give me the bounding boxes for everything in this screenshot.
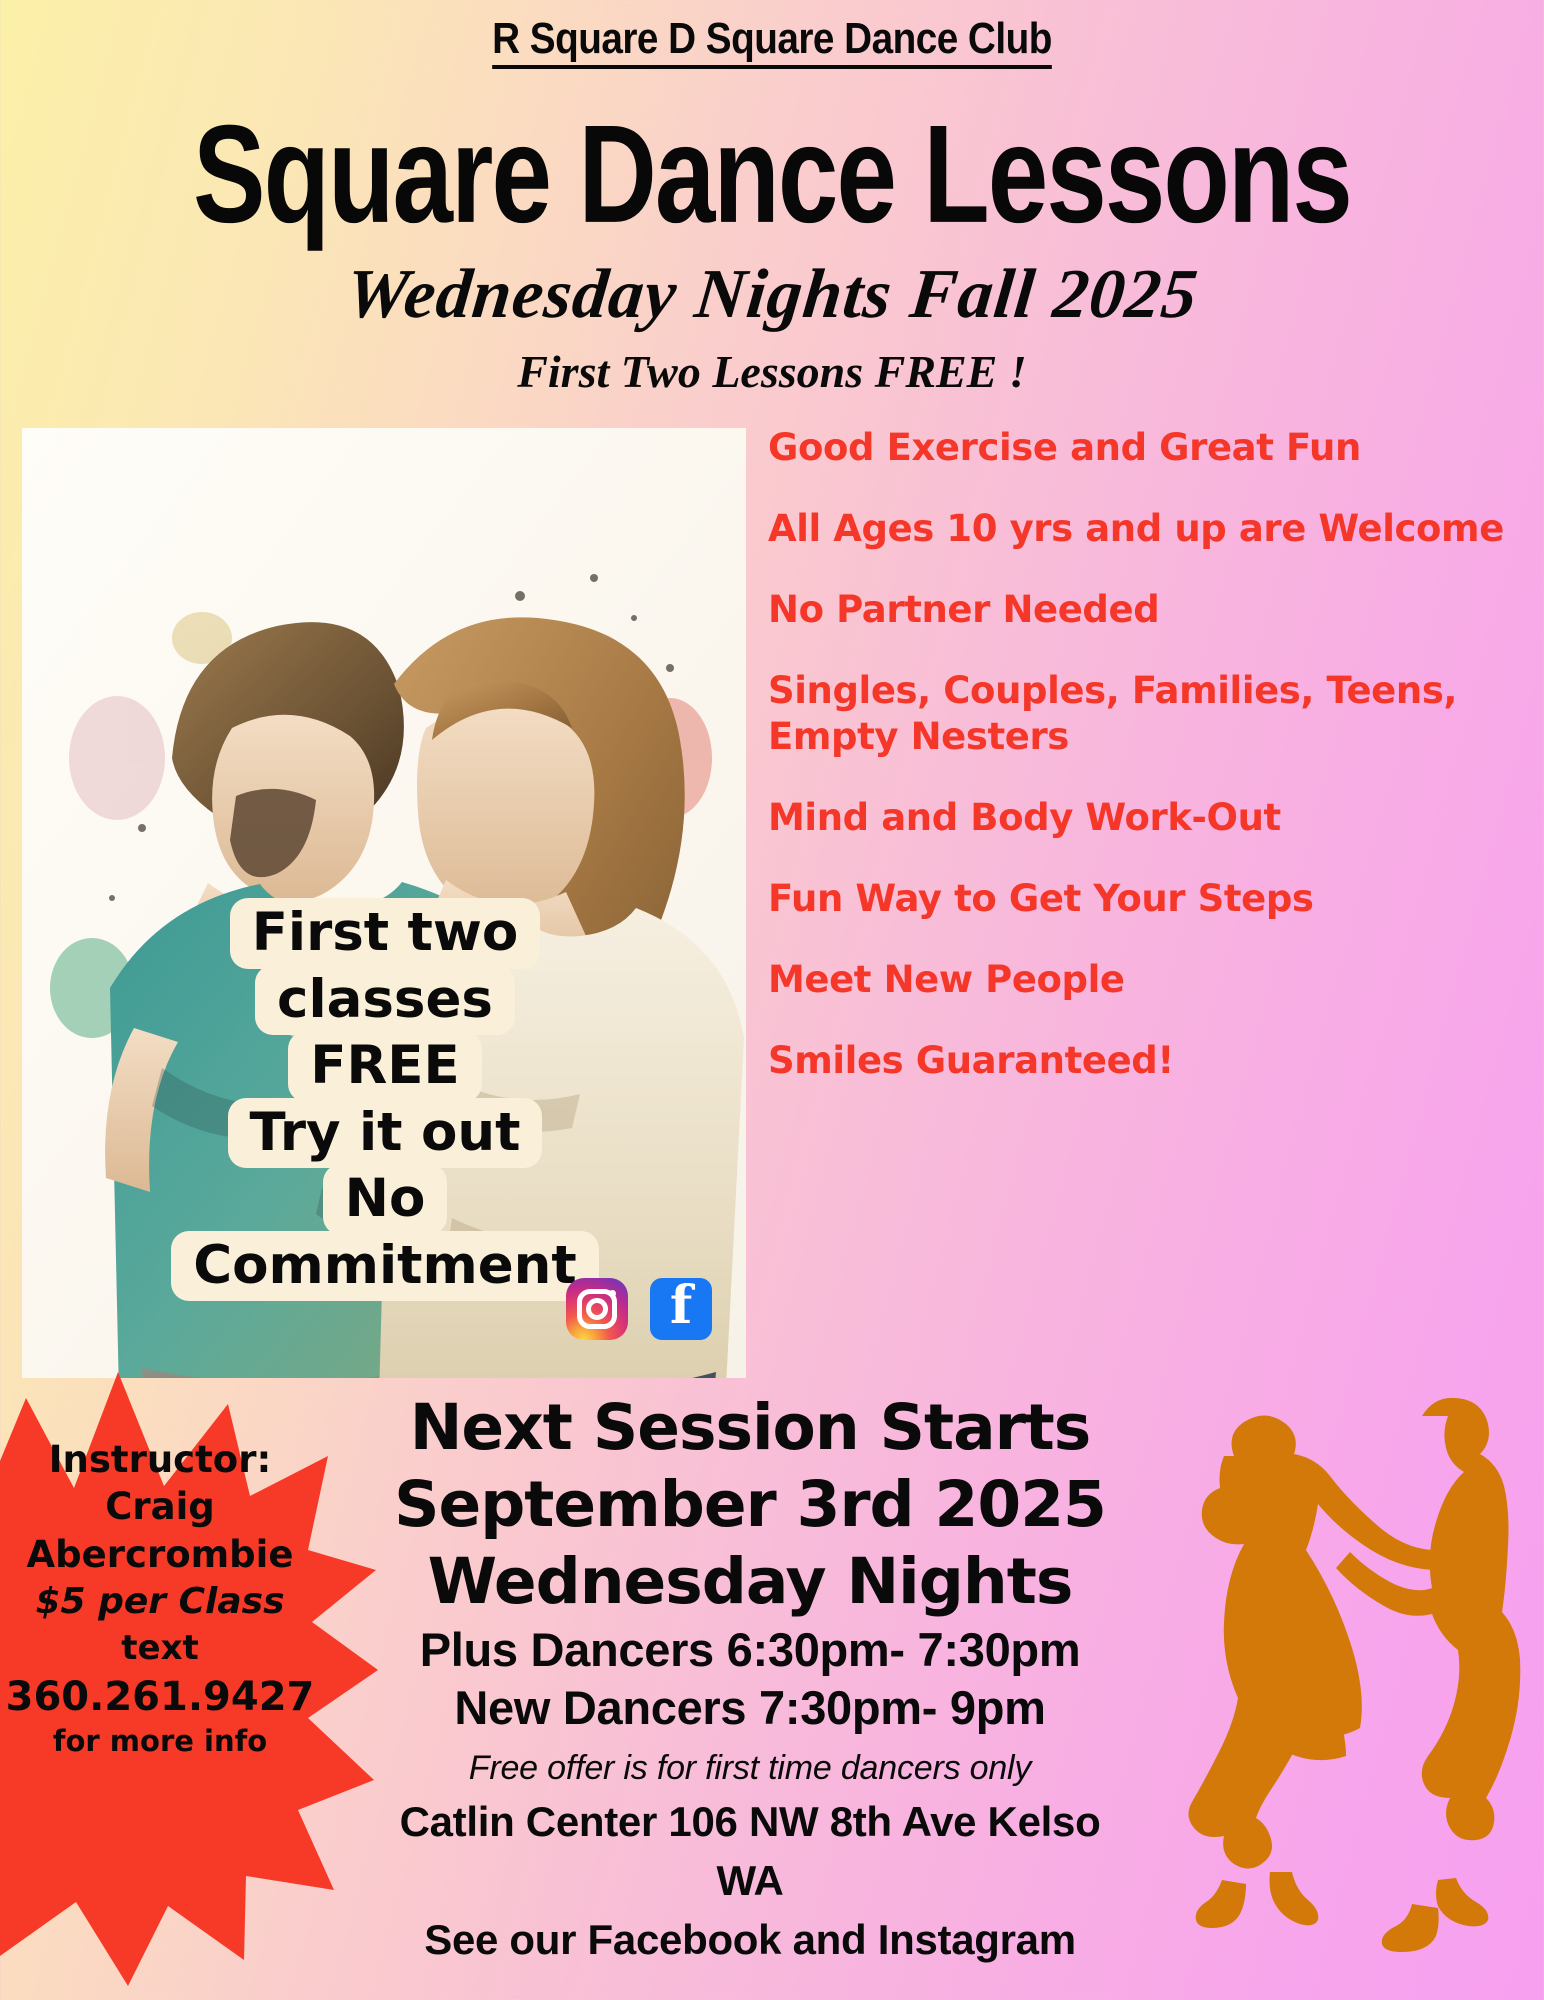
benefit-item: Meet New People	[768, 957, 1528, 1002]
page-subtitle: Wednesday Nights Fall 2025	[0, 255, 1544, 335]
plus-dancers-time: Plus Dancers 6:30pm- 7:30pm	[380, 1621, 1120, 1680]
benefits-list: Good Exercise and Great Fun All Ages 10 …	[768, 425, 1528, 1119]
overlay-line-4: Try it out	[228, 1098, 543, 1169]
free-lessons-tagline: First Two Lessons FREE !	[0, 345, 1544, 398]
free-classes-overlay: First two classes FREE Try it out No Com…	[185, 900, 585, 1299]
instructor-first-name: Craig	[0, 1483, 320, 1530]
dancing-couple-silhouette	[1122, 1360, 1532, 1960]
social-icons: f	[566, 1278, 712, 1340]
benefit-item: Good Exercise and Great Fun	[768, 425, 1528, 470]
instructor-label: Instructor:	[0, 1436, 320, 1483]
session-headline-2: September 3rd 2025	[380, 1467, 1120, 1544]
instagram-icon[interactable]	[566, 1278, 628, 1340]
overlay-line-3: FREE	[288, 1031, 481, 1102]
club-name: R Square D Square Dance Club	[93, 14, 1452, 64]
session-headline-1: Next Session Starts	[380, 1390, 1120, 1467]
club-name-text: R Square D Square Dance Club	[492, 14, 1052, 69]
facebook-icon[interactable]: f	[650, 1278, 712, 1340]
instructor-info: Instructor: Craig Abercrombie $5 per Cla…	[0, 1436, 320, 1760]
text-label: text	[0, 1626, 320, 1670]
overlay-line-2: classes	[255, 965, 515, 1036]
overlay-line-1: First two	[230, 898, 541, 969]
social-media-note: See our Facebook and Instagram	[380, 1911, 1120, 1970]
benefit-item: No Partner Needed	[768, 587, 1528, 632]
benefit-item: Singles, Couples, Families, Teens, Empty…	[768, 668, 1528, 758]
overlay-line-5: No	[323, 1164, 448, 1235]
benefit-item: Mind and Body Work-Out	[768, 795, 1528, 840]
free-offer-disclaimer: Free offer is for first time dancers onl…	[380, 1744, 1120, 1793]
instructor-last-name: Abercrombie	[0, 1531, 320, 1578]
new-dancers-time: New Dancers 7:30pm- 9pm	[380, 1679, 1120, 1738]
phone-number[interactable]: 360.261.9427	[0, 1671, 320, 1723]
instagram-icon-dot	[609, 1290, 616, 1297]
benefit-item: Smiles Guaranteed!	[768, 1038, 1528, 1083]
overlay-line-6: Commitment	[171, 1231, 599, 1302]
class-price: $5 per Class	[0, 1578, 320, 1626]
benefit-item: All Ages 10 yrs and up are Welcome	[768, 506, 1528, 551]
page-title: Square Dance Lessons	[62, 105, 1482, 244]
dancing-couple-svg	[1122, 1360, 1532, 1960]
more-info-note: for more info	[0, 1723, 320, 1761]
instagram-icon-lens	[586, 1298, 608, 1320]
session-details: Next Session Starts September 3rd 2025 W…	[380, 1390, 1120, 1970]
venue-address: Catlin Center 106 NW 8th Ave Kelso WA	[380, 1793, 1120, 1911]
session-headline-3: Wednesday Nights	[380, 1544, 1120, 1621]
benefit-item: Fun Way to Get Your Steps	[768, 876, 1528, 921]
